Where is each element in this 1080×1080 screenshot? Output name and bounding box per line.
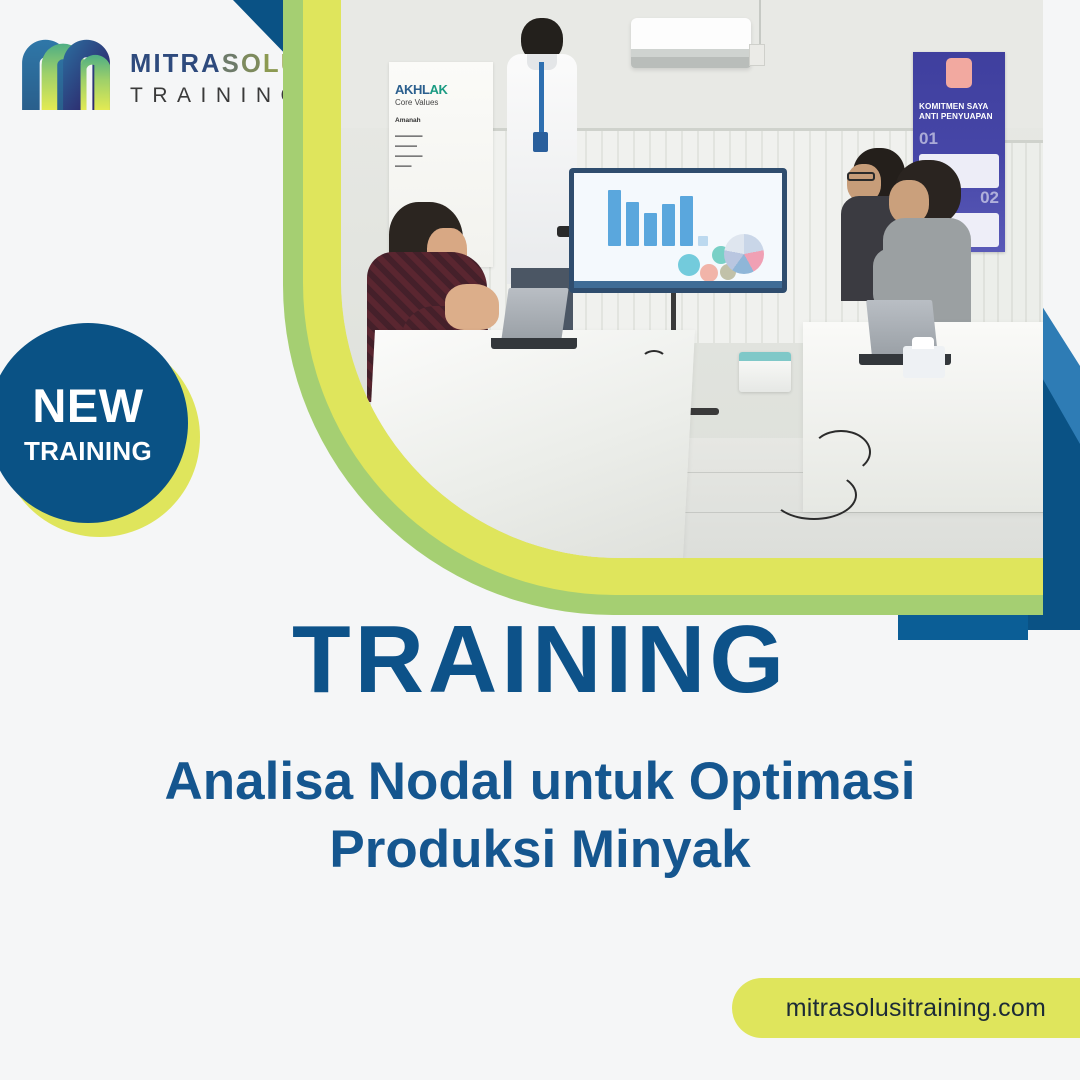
banner-akhlak-item: Amanah <box>395 117 487 124</box>
ac-wall-box <box>749 44 765 66</box>
poster-canvas: MITRASOLUSI TRAINING AKHLAK <box>0 0 1080 1080</box>
cable-loop <box>771 470 857 520</box>
training-photo: AKHLAK Core Values Amanah ▬▬▬▬▬▬▬▬▬▬▬▬▬▬… <box>341 0 1043 558</box>
laptop-left-screen <box>501 288 568 340</box>
new-training-badge[interactable]: NEW TRAINING <box>0 323 204 539</box>
banner-komitmen-line2: ANTI PENYUAPAN <box>919 112 999 122</box>
logo-name-secondary-l: L <box>263 50 281 78</box>
banner-akhlak-subtitle: Core Values <box>395 98 487 107</box>
air-conditioner-icon <box>631 18 751 68</box>
photo-frame: AKHLAK Core Values Amanah ▬▬▬▬▬▬▬▬▬▬▬▬▬▬… <box>283 0 1080 615</box>
eyeglasses-icon <box>847 172 875 181</box>
banner-komitmen-line1: KOMITMEN SAYA <box>919 102 999 112</box>
banner-akhlak-title-b: AK <box>430 82 448 97</box>
logo-name-secondary-o: O <box>241 50 263 78</box>
presenter-id-card <box>533 132 548 152</box>
banner-akhlak-title: AKHLAK <box>395 82 487 97</box>
laptop-left <box>491 288 577 350</box>
tissue-box <box>903 346 945 378</box>
page-subtitle: Analisa Nodal untuk Optimasi Produksi Mi… <box>90 748 990 884</box>
chart-bar <box>662 204 675 246</box>
pie-chart <box>724 234 764 274</box>
website-pill[interactable]: mitrasolusitraining.com <box>732 978 1080 1038</box>
badge-label-new: NEW <box>32 382 143 429</box>
chart-bar <box>608 190 621 246</box>
banner-akhlak-logos <box>395 72 487 82</box>
chart-bar <box>698 236 708 246</box>
logo-name-secondary-s: S <box>222 50 241 78</box>
projector-device <box>739 352 791 392</box>
chart-bar <box>680 196 693 246</box>
badge-label-training: TRAINING <box>24 438 152 464</box>
cable-loop <box>641 350 667 370</box>
banner-komitmen-graphic <box>946 58 972 88</box>
display-screen <box>574 173 782 288</box>
banner-akhlak-title-a: AKHL <box>395 82 430 97</box>
chart-bar <box>644 213 657 246</box>
tissue-sheet <box>912 337 934 349</box>
display-taskbar <box>574 281 782 288</box>
presentation-display <box>569 168 787 293</box>
presenter-lanyard <box>539 62 544 134</box>
photo-scene: AKHLAK Core Values Amanah ▬▬▬▬▬▬▬▬▬▬▬▬▬▬… <box>341 0 1043 558</box>
laptop-left-base <box>491 338 577 349</box>
logo-mark-icon <box>18 28 116 110</box>
banner-akhlak-body: ▬▬▬▬▬▬▬▬▬▬▬▬▬▬▬▬▬ <box>395 132 487 172</box>
banner-komitmen-num1: 01 <box>919 129 999 149</box>
logo-name-primary: MITRA <box>130 50 222 78</box>
bubble-chart-node <box>678 254 700 276</box>
projector-top <box>739 352 791 361</box>
cable-loop <box>811 430 871 474</box>
bubble-chart-node <box>700 264 718 282</box>
website-url: mitrasolusitraining.com <box>786 994 1046 1023</box>
chart-bar <box>626 202 639 246</box>
page-title: TRAINING <box>0 612 1080 708</box>
ac-wire <box>759 0 761 48</box>
